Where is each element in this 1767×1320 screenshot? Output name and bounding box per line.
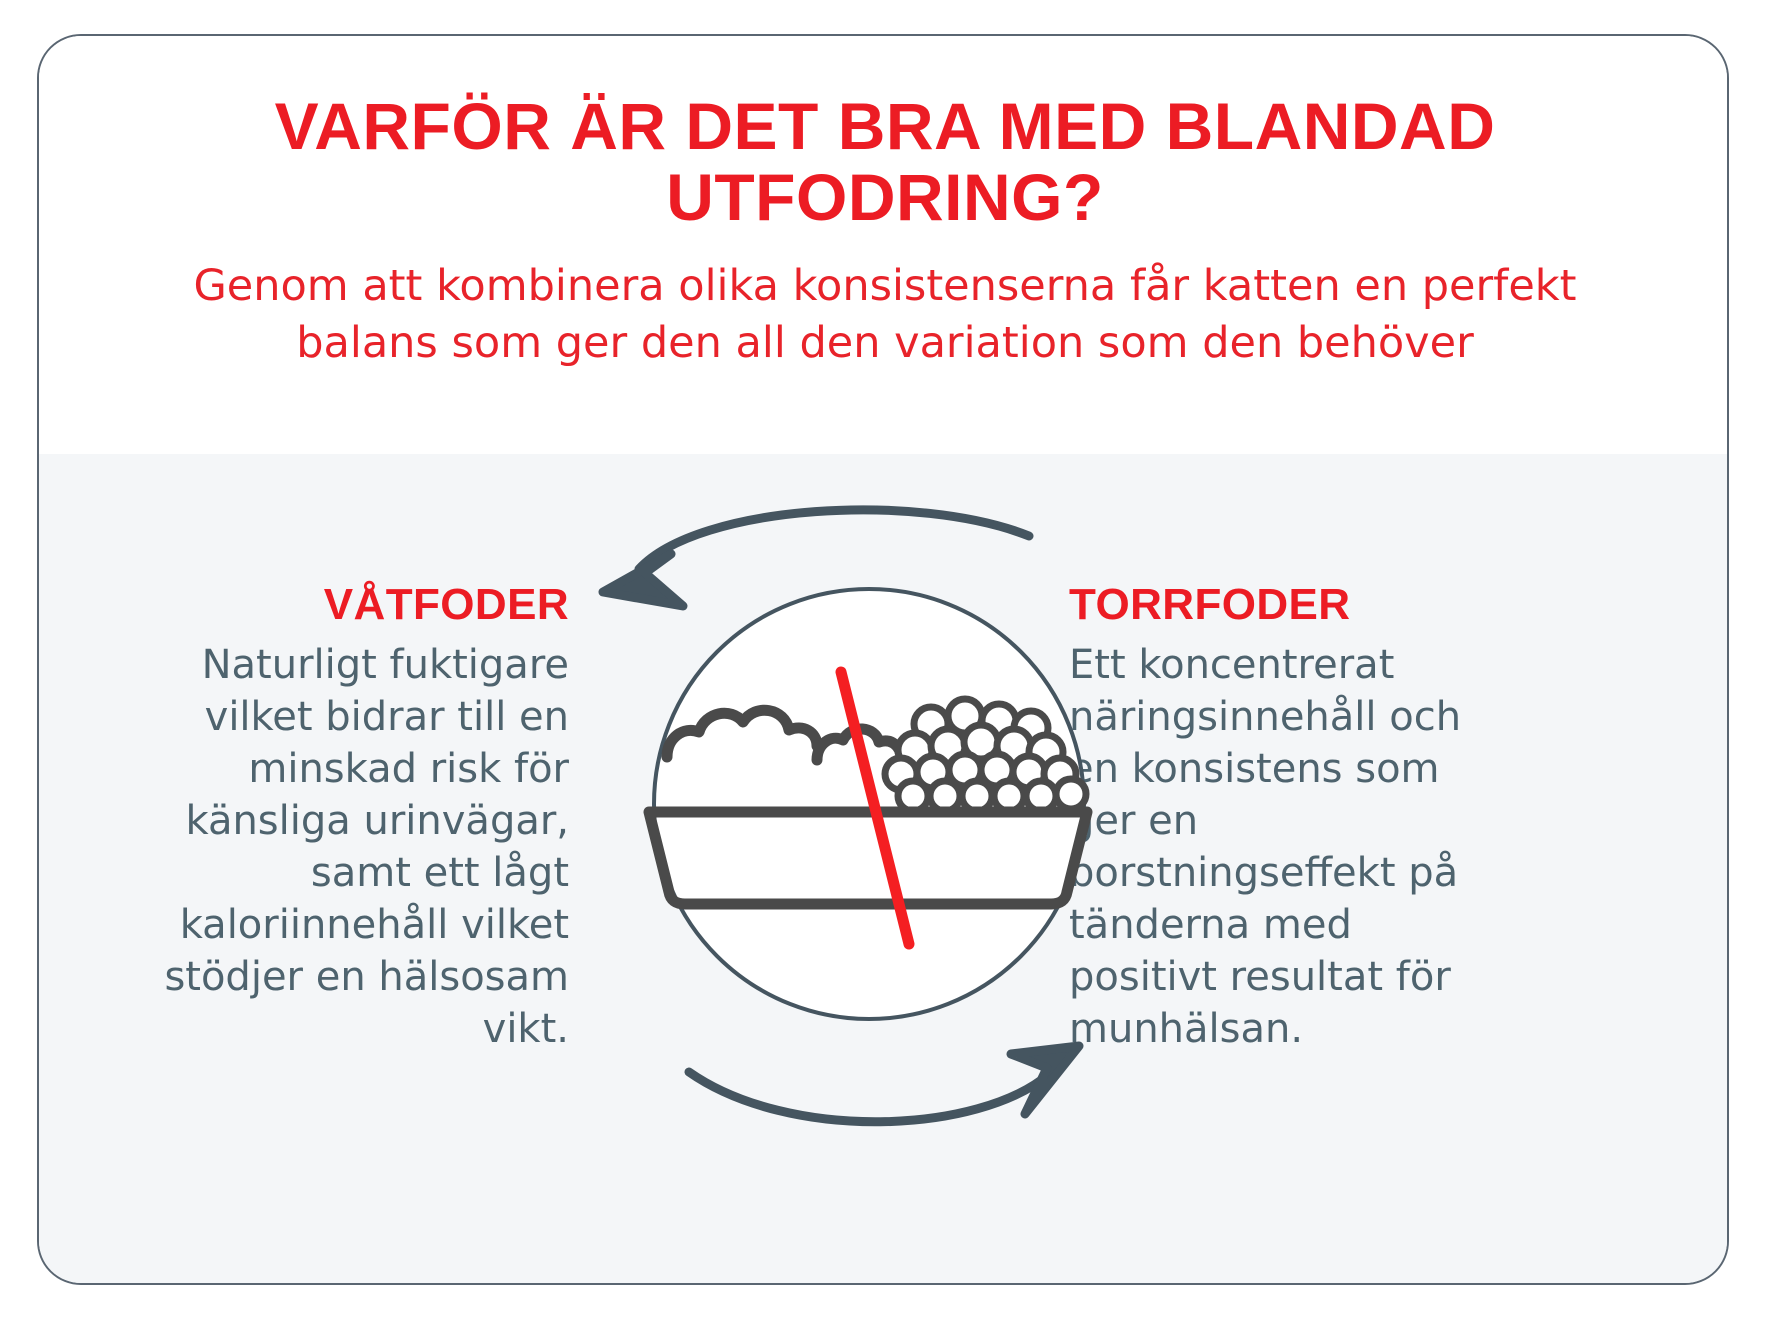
card-body: VÅTFODER Naturligt fuktigare vilket bidr… [39, 454, 1727, 1285]
mixed-feeding-illustration [579, 474, 1159, 1174]
column-wet-food-heading: VÅTFODER [139, 580, 569, 631]
page-title: VARFÖR ÄR DET BRA MED BLANDAD UTFODRING? [149, 91, 1621, 234]
card-header: VARFÖR ÄR DET BRA MED BLANDAD UTFODRING?… [39, 36, 1727, 454]
curved-arrow-bottom-icon [689, 1046, 1079, 1122]
curved-arrow-top-icon [603, 510, 1029, 606]
column-wet-food-body: Naturligt fuktigare vilket bidrar till e… [139, 639, 569, 1055]
column-wet-food: VÅTFODER Naturligt fuktigare vilket bidr… [139, 580, 569, 1055]
page-subtitle: Genom att kombinera olika konsistenserna… [159, 258, 1611, 372]
infographic-card: VARFÖR ÄR DET BRA MED BLANDAD UTFODRING?… [37, 34, 1729, 1285]
